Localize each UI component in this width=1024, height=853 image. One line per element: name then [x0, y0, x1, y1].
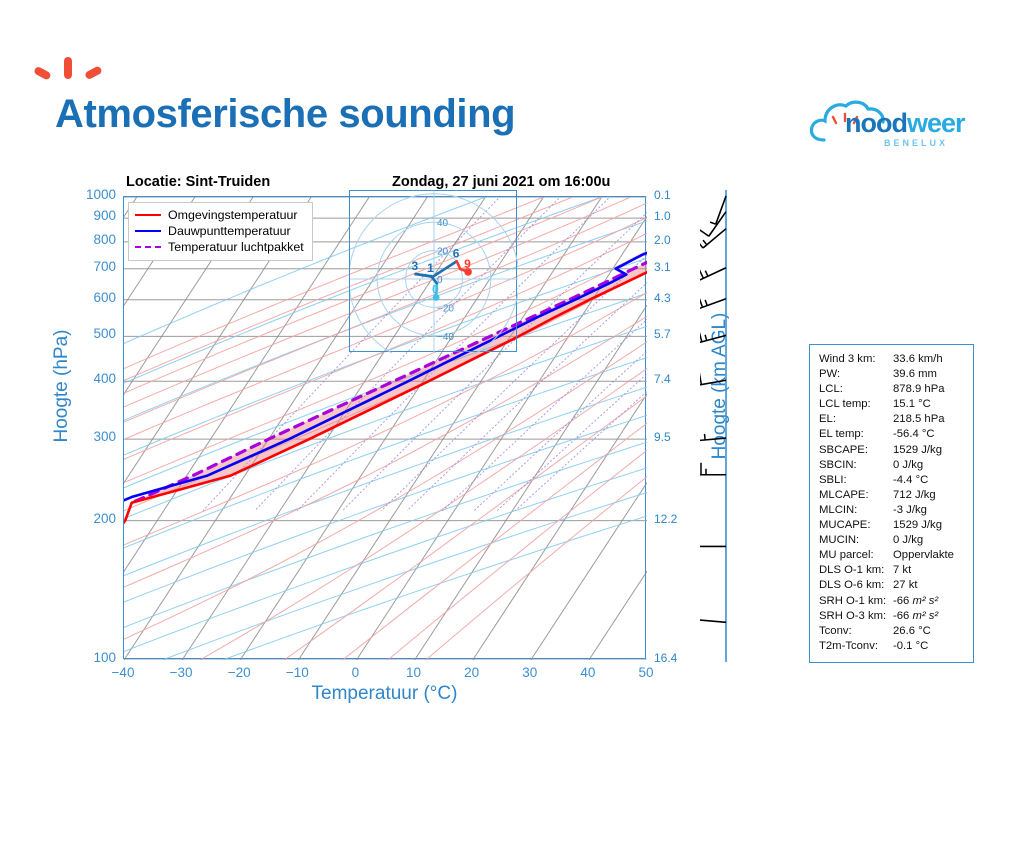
svg-text:−20: −20: [437, 303, 454, 314]
parameter-row: LCL temp:15.1 °C: [819, 398, 973, 413]
height-tick: 5.7: [654, 327, 694, 341]
parameter-key: MU parcel:: [819, 549, 893, 561]
temperature-tick: −40: [98, 665, 148, 680]
temperature-tick: 0: [330, 665, 380, 680]
legend-swatch-temperature: [135, 214, 161, 216]
parameter-value: 15.1 °C: [893, 398, 931, 410]
parameter-value: 1529 J/kg: [893, 519, 942, 531]
parameter-row: MLCAPE:712 J/kg: [819, 489, 973, 504]
parameter-value: 26.6 °C: [893, 625, 931, 637]
temperature-tick: −30: [156, 665, 206, 680]
parameter-value: 0 J/kg: [893, 534, 923, 546]
hodograph-svg: 40200−20−4001369: [350, 191, 518, 353]
pressure-tick: 100: [68, 650, 116, 665]
height-tick: 4.3: [654, 291, 694, 305]
parameter-value: -66 m² s²: [893, 595, 938, 607]
parameter-row: MUCIN:0 J/kg: [819, 534, 973, 549]
parameter-row: SBLI:-4.4 °C: [819, 474, 973, 489]
pressure-tick: 200: [68, 511, 116, 526]
svg-text:40: 40: [437, 218, 449, 229]
svg-text:3: 3: [412, 259, 419, 273]
parameter-row: SBCAPE:1529 J/kg: [819, 444, 973, 459]
parameter-row: Tconv:26.6 °C: [819, 625, 973, 640]
brand-subtitle: BENELUX: [884, 138, 948, 148]
legend-label-parcel: Temperatuur luchtpakket: [168, 240, 304, 254]
brand-name-part2: weer: [907, 108, 965, 138]
parameter-key: SBCIN:: [819, 459, 893, 471]
parameter-key: PW:: [819, 368, 893, 380]
parameter-value: 39.6 mm: [893, 368, 937, 380]
parameter-row: EL:218.5 hPa: [819, 413, 973, 428]
svg-text:−40: −40: [437, 332, 454, 343]
sounding-chart: Locatie: Sint-Truiden Zondag, 27 juni 20…: [0, 160, 720, 720]
parameter-key: T2m-Tconv:: [819, 640, 893, 652]
parameter-key: Wind 3 km:: [819, 353, 893, 365]
parameter-value: 878.9 hPa: [893, 383, 945, 395]
height-tick: 1.0: [654, 209, 694, 223]
parameter-key: SBLI:: [819, 474, 893, 486]
x-axis-label: Temperatuur (°C): [123, 683, 646, 705]
chart-location-label: Locatie: Sint-Truiden: [126, 174, 270, 190]
temperature-tick: −20: [214, 665, 264, 680]
temperature-tick: 20: [447, 665, 497, 680]
parameter-value: 27 kt: [893, 579, 918, 591]
parameter-key: MLCIN:: [819, 504, 893, 516]
height-tick: 3.1: [654, 260, 694, 274]
brand-wordmark: noodweer: [845, 108, 965, 139]
page-title: Atmosferische sounding: [55, 92, 515, 137]
wind-barb: [700, 373, 726, 386]
legend-item-temperature: Omgevingstemperatuur: [135, 207, 304, 223]
pressure-tick: 700: [68, 259, 116, 274]
legend-label-temperature: Omgevingstemperatuur: [168, 208, 297, 222]
wind-barb-column: [700, 160, 810, 680]
parameter-row: EL temp:-56.4 °C: [819, 428, 973, 443]
height-tick: 12.2: [654, 512, 694, 526]
parameter-value: Oppervlakte: [893, 549, 954, 561]
hodograph-inset: 40200−20−4001369: [349, 190, 517, 352]
height-tick: 9.5: [654, 430, 694, 444]
parameter-row: SRH O-1 km:-66 m² s²: [819, 595, 973, 610]
wind-barb: [700, 428, 726, 442]
parameters-panel: Wind 3 km:33.6 km/hPW:39.6 mmLCL:878.9 h…: [809, 344, 974, 663]
parameter-key: MUCIN:: [819, 534, 893, 546]
parameter-value: 0 J/kg: [893, 459, 923, 471]
pressure-tick: 400: [68, 371, 116, 386]
wind-barb: [700, 608, 726, 623]
parameter-key: SRH O-1 km:: [819, 595, 893, 607]
parameter-row: Wind 3 km:33.6 km/h: [819, 353, 973, 368]
parameter-row: SBCIN:0 J/kg: [819, 459, 973, 474]
parameter-key: MLCAPE:: [819, 489, 893, 501]
spark-logo-icon: [30, 55, 120, 90]
parameter-row: MU parcel:Oppervlakte: [819, 549, 973, 564]
temperature-tick: 30: [505, 665, 555, 680]
parameter-key: EL:: [819, 413, 893, 425]
wind-barb: [700, 330, 726, 343]
wind-barb: [700, 267, 726, 280]
parameter-row: SRH O-3 km:-66 m² s²: [819, 610, 973, 625]
parameter-key: DLS O-1 km:: [819, 564, 893, 576]
pressure-tick: 800: [68, 232, 116, 247]
parameter-value: -4.4 °C: [893, 474, 928, 486]
pressure-tick: 600: [68, 290, 116, 305]
height-tick: 7.4: [654, 372, 694, 386]
height-tick: 2.0: [654, 233, 694, 247]
parameter-value: 218.5 hPa: [893, 413, 945, 425]
parameter-row: DLS O-6 km:27 kt: [819, 579, 973, 594]
legend-item-dewpoint: Dauwpunttemperatuur: [135, 223, 304, 239]
svg-text:1: 1: [427, 261, 434, 275]
chart-datetime-label: Zondag, 27 juni 2021 om 16:00u: [392, 174, 610, 190]
wind-barb: [710, 196, 726, 224]
svg-text:0: 0: [432, 282, 439, 296]
parameter-key: LCL:: [819, 383, 893, 395]
parameter-key: SRH O-3 km:: [819, 610, 893, 622]
svg-text:20: 20: [437, 247, 449, 258]
pressure-tick: 300: [68, 429, 116, 444]
parameter-key: DLS O-6 km:: [819, 579, 893, 591]
legend-item-parcel: Temperatuur luchtpakket: [135, 239, 304, 255]
height-tick: 0.1: [654, 188, 694, 202]
parameter-value: -3 J/kg: [893, 504, 927, 516]
parameter-key: Tconv:: [819, 625, 893, 637]
parameter-row: DLS O-1 km:7 kt: [819, 564, 973, 579]
svg-text:6: 6: [453, 246, 460, 260]
legend-swatch-dewpoint: [135, 230, 161, 232]
pressure-tick: 500: [68, 326, 116, 341]
parameter-row: MLCIN:-3 J/kg: [819, 504, 973, 519]
legend-label-dewpoint: Dauwpunttemperatuur: [168, 224, 291, 238]
parameter-value: -66 m² s²: [893, 610, 938, 622]
parameter-value: 7 kt: [893, 564, 911, 576]
parameter-value: 712 J/kg: [893, 489, 936, 501]
parameter-value: 1529 J/kg: [893, 444, 942, 456]
temperature-tick: −10: [272, 665, 322, 680]
wind-barbs-svg: [700, 160, 810, 680]
parameter-row: PW:39.6 mm: [819, 368, 973, 383]
legend-swatch-parcel: [135, 246, 161, 248]
chart-legend: Omgevingstemperatuur Dauwpunttemperatuur…: [128, 202, 313, 261]
parameter-row: T2m-Tconv:-0.1 °C: [819, 640, 973, 655]
parameter-value: -56.4 °C: [893, 428, 935, 440]
parameter-value: 33.6 km/h: [893, 353, 943, 365]
parameter-key: MUCAPE:: [819, 519, 893, 531]
pressure-tick: 900: [68, 208, 116, 223]
height-tick: 16.4: [654, 651, 694, 665]
parameter-key: EL temp:: [819, 428, 893, 440]
temperature-tick: 50: [621, 665, 671, 680]
svg-text:9: 9: [464, 257, 471, 271]
parameter-row: LCL:878.9 hPa: [819, 383, 973, 398]
temperature-tick: 10: [389, 665, 439, 680]
wind-barb: [700, 296, 726, 309]
parameter-key: SBCAPE:: [819, 444, 893, 456]
parameter-key: LCL temp:: [819, 398, 893, 410]
parameter-value: -0.1 °C: [893, 640, 928, 652]
wind-barb: [700, 463, 726, 475]
brand-name-part1: nood: [845, 108, 907, 138]
pressure-tick: 1000: [68, 187, 116, 202]
temperature-tick: 40: [563, 665, 613, 680]
wind-barb: [700, 534, 726, 546]
parameter-row: MUCAPE:1529 J/kg: [819, 519, 973, 534]
